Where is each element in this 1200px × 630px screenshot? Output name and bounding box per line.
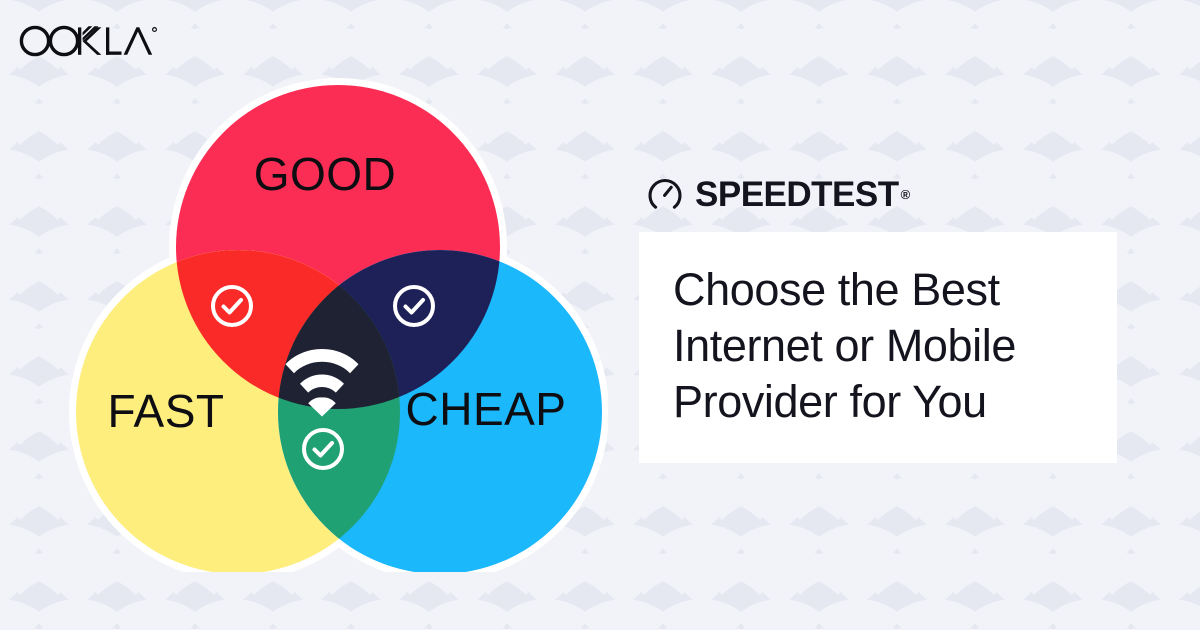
headline-line-1: Choose the Best [673, 262, 1083, 318]
poster-canvas: OOKLA Good Fast Cheap venn diagram [0, 0, 1200, 630]
ookla-registered-mark [153, 28, 157, 32]
speedtest-logo-lockup: SPEEDTEST ® [647, 170, 1119, 218]
ookla-letter-o2 [50, 27, 77, 54]
venn-label-cheap: CHEAP [406, 383, 567, 435]
ookla-logo: OOKLA [18, 18, 158, 62]
venn-diagram: Good Fast Cheap venn diagram [48, 62, 608, 572]
headline-line-3: Provider for You [673, 374, 1083, 430]
speedtest-wordmark: SPEEDTEST [695, 177, 899, 212]
headline-line-2: Internet or Mobile [673, 318, 1083, 374]
venn-label-good: GOOD [254, 148, 397, 200]
ookla-letter-l [106, 27, 122, 54]
page-title: Choose the Best Internet or Mobile Provi… [673, 262, 1083, 429]
speedometer-icon [647, 176, 683, 212]
ookla-letter-o1 [21, 27, 48, 54]
venn-label-fast: FAST [107, 385, 224, 437]
speedtest-registered-mark: ® [901, 187, 911, 202]
right-column: SPEEDTEST ® Choose the Best Internet or … [639, 170, 1119, 463]
headline-card: Choose the Best Internet or Mobile Provi… [639, 232, 1117, 463]
ookla-letter-k [78, 26, 101, 55]
ookla-letter-a [124, 27, 153, 55]
